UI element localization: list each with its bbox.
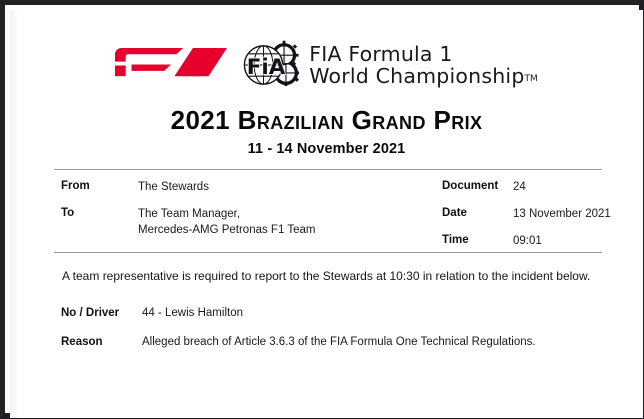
meta-value-from: The Stewards [138,180,209,196]
meta-value-date: 13 November 2021 [513,207,611,223]
incident-label-reason: Reason [61,336,142,348]
meta-row-date: Date13 November 2021 [442,207,632,225]
title-block: 2021 Brazilian Grand Prix 11 - 14 Novemb… [10,106,643,157]
fia-wordmark-line2: World ChampionshipTM [309,65,538,87]
fia-wordmark: FIA Formula 1 World ChampionshipTM [309,43,538,87]
meta-row-from: FromThe Stewards [61,180,391,198]
meta-row-document: Document24 [442,180,632,198]
meta-value-to: The Team Manager, Mercedes-AMG Petronas … [138,207,315,238]
meta-label-to: To [61,207,138,219]
meta-value-time: 09:01 [513,234,542,250]
page-title: 2021 Brazilian Grand Prix [10,106,643,135]
meta-row-time: Time09:01 [442,234,632,252]
fia-roundel-icon: FiA [243,38,299,92]
fia-wordmark-line2-text: World Championship [309,64,524,88]
f1-logo-icon [115,44,227,86]
incident-row-driver: No / Driver44 - Lewis Hamilton [61,307,631,325]
incident-value-driver: 44 - Lewis Hamilton [142,307,243,319]
body-paragraph: A team representative is required to rep… [62,269,622,285]
document-frame: FiA FIA Formula 1 World ChampionshipTM 2… [0,0,644,419]
meta-label-from: From [61,180,138,192]
meta-row-to: ToThe Team Manager, Mercedes-AMG Petrona… [61,207,391,238]
divider-top [54,169,602,170]
incident-label-driver: No / Driver [61,307,142,319]
meta-column-right: Document24 Date13 November 2021 Time09:0… [442,180,632,261]
meta-column-left: FromThe Stewards ToThe Team Manager, Mer… [61,180,391,247]
trademark-symbol: TM [525,74,538,84]
document-page: FiA FIA Formula 1 World ChampionshipTM 2… [10,10,643,418]
header-logo-block: FiA FIA Formula 1 World ChampionshipTM [10,32,643,98]
event-dates: 11 - 14 November 2021 [10,141,643,157]
meta-value-document: 24 [513,180,526,196]
incident-block: No / Driver44 - Lewis Hamilton ReasonAll… [61,307,631,365]
meta-label-date: Date [442,207,513,219]
meta-label-document: Document [442,180,513,192]
fia-wordmark-line1: FIA Formula 1 [309,43,538,65]
meta-label-time: Time [442,234,513,246]
incident-value-reason: Alleged breach of Article 3.6.3 of the F… [142,336,536,348]
meta-block: FromThe Stewards ToThe Team Manager, Mer… [10,180,643,250]
fia-roundel-text: FiA [247,55,286,80]
incident-row-reason: ReasonAlleged breach of Article 3.6.3 of… [61,336,631,354]
